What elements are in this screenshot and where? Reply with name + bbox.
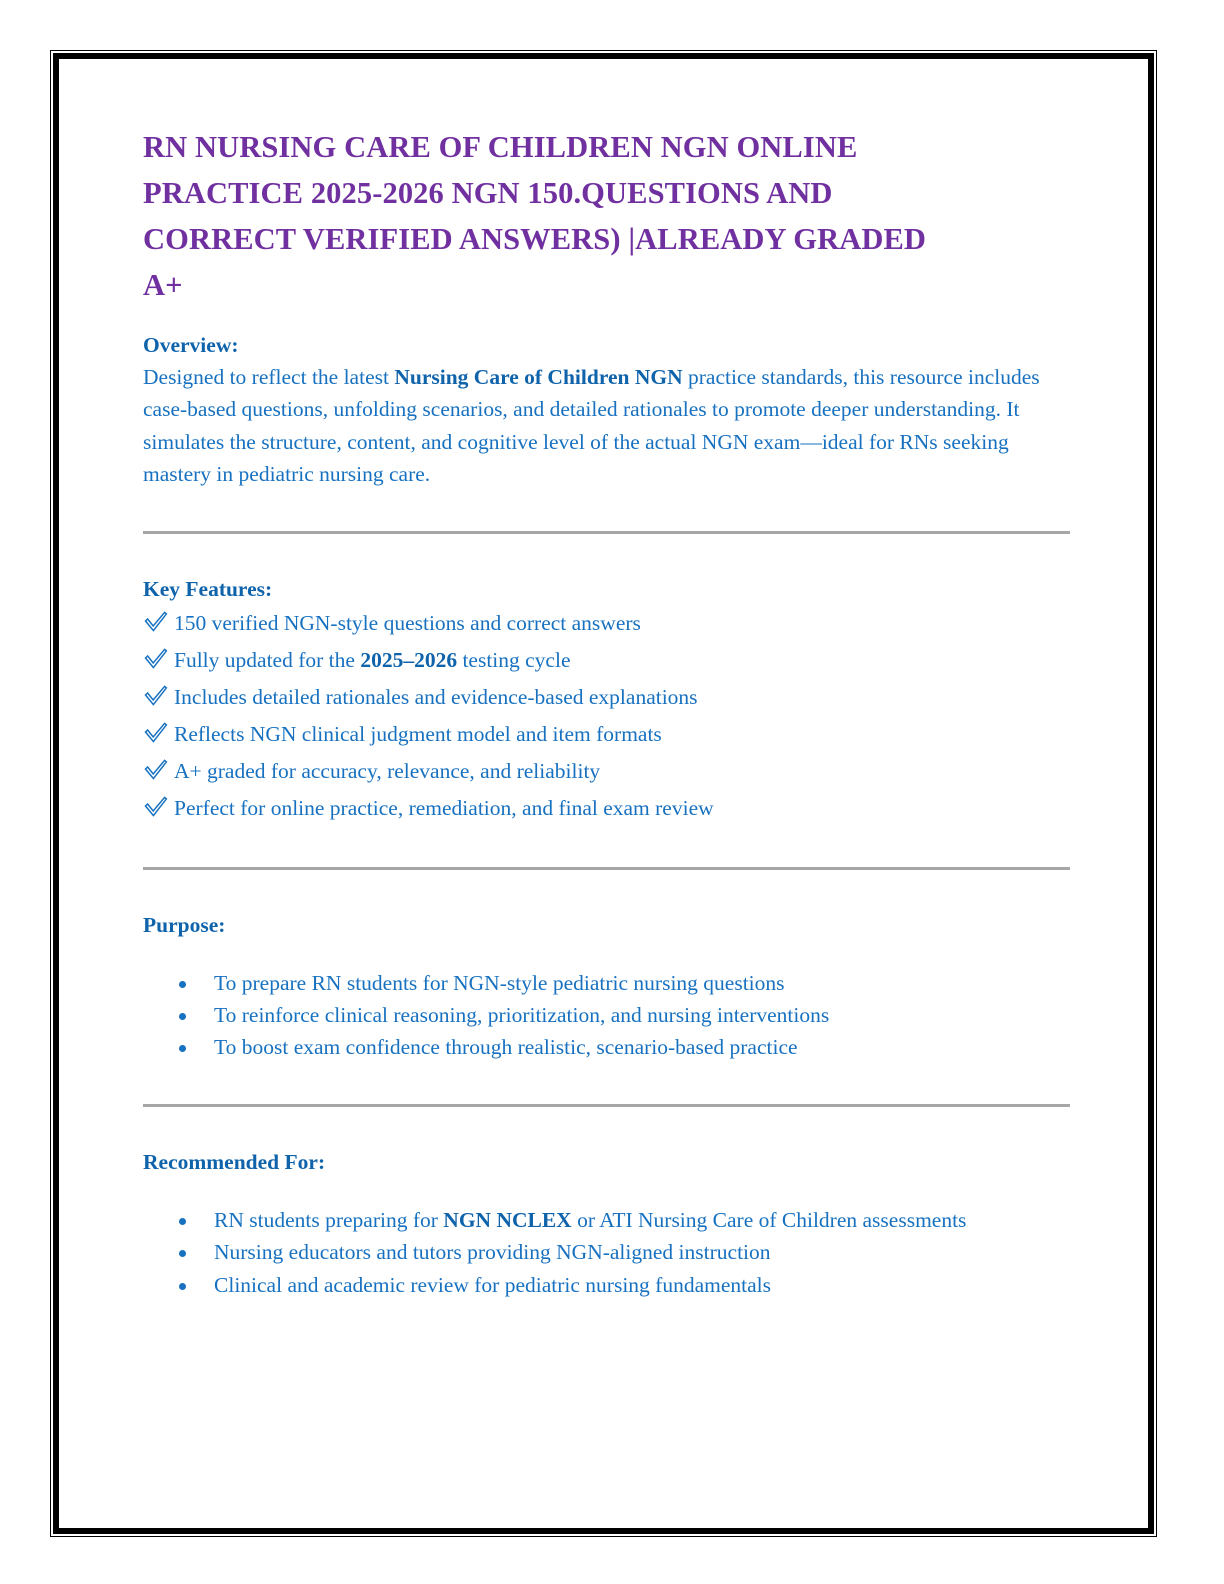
text-pre: Perfect for online practice, remediation…: [174, 796, 714, 820]
list-item-label: 150 verified NGN-style questions and cor…: [174, 605, 641, 642]
spacer: [143, 1064, 1073, 1104]
check-outline-icon: [143, 795, 169, 821]
list-item: To reinforce clinical reasoning, priorit…: [143, 999, 1073, 1031]
page-title-line-4: A+: [143, 262, 1063, 308]
list-item: RN students preparing for NGN NCLEX or A…: [143, 1204, 1073, 1236]
section-recommended-for: Recommended For: RN students preparing f…: [143, 1147, 1073, 1301]
spacer: [143, 870, 1073, 910]
text-pre: Includes detailed rationales and evidenc…: [174, 685, 698, 709]
list-item-label: Includes detailed rationales and evidenc…: [174, 679, 698, 716]
spacer: [143, 941, 1073, 967]
list-item-label: A+ graded for accuracy, relevance, and r…: [174, 753, 600, 790]
check-outline-icon: [143, 610, 169, 636]
text-post: or ATI Nursing Care of Children assessme…: [572, 1208, 967, 1232]
spacer: [143, 534, 1073, 574]
text-pre: RN students preparing for: [214, 1208, 443, 1232]
overview-text-part1: Designed to reflect the latest: [143, 365, 394, 389]
page-title-line-1: RN NURSING CARE OF CHILDREN NGN ONLINE: [143, 124, 1063, 170]
list-item: 150 verified NGN-style questions and cor…: [143, 605, 1073, 642]
text-pre: Clinical and academic review for pediatr…: [214, 1273, 771, 1297]
overview-paragraph: Designed to reflect the latest Nursing C…: [143, 361, 1073, 491]
recommended-for-list: RN students preparing for NGN NCLEX or A…: [143, 1204, 1073, 1301]
text-pre: To boost exam confidence through realist…: [214, 1035, 798, 1059]
text-pre: A+ graded for accuracy, relevance, and r…: [174, 759, 600, 783]
list-item: Reflects NGN clinical judgment model and…: [143, 716, 1073, 753]
check-outline-icon: [143, 721, 169, 747]
text-pre: 150 verified NGN-style questions and cor…: [174, 611, 641, 635]
section-key-features: Key Features: 150 verified NGN-style que…: [143, 574, 1073, 827]
overview-text-bold: Nursing Care of Children NGN: [394, 365, 682, 389]
list-item: Fully updated for the 2025–2026 testing …: [143, 642, 1073, 679]
recommended-for-heading: Recommended For:: [143, 1147, 1073, 1177]
text-post: testing cycle: [457, 648, 570, 672]
text-pre: Reflects NGN clinical judgment model and…: [174, 722, 662, 746]
text-pre: To prepare RN students for NGN-style ped…: [214, 971, 785, 995]
list-item-label: Reflects NGN clinical judgment model and…: [174, 716, 662, 753]
check-outline-icon: [143, 647, 169, 673]
check-outline-icon: [143, 758, 169, 784]
page-border-outer: RN NURSING CARE OF CHILDREN NGN ONLINE P…: [50, 50, 1157, 1537]
list-item: Clinical and academic review for pediatr…: [143, 1269, 1073, 1301]
document-body: RN NURSING CARE OF CHILDREN NGN ONLINE P…: [143, 124, 1073, 1301]
page-title-line-2: PRACTICE 2025-2026 NGN 150.QUESTIONS AND: [143, 170, 1063, 216]
list-item-label: Perfect for online practice, remediation…: [174, 790, 714, 827]
list-item: A+ graded for accuracy, relevance, and r…: [143, 753, 1073, 790]
text-bold: NGN NCLEX: [443, 1208, 571, 1232]
purpose-heading: Purpose:: [143, 910, 1073, 940]
purpose-list: To prepare RN students for NGN-style ped…: [143, 967, 1073, 1064]
page-title: RN NURSING CARE OF CHILDREN NGN ONLINE P…: [143, 124, 1063, 308]
section-purpose: Purpose: To prepare RN students for NGN-…: [143, 910, 1073, 1064]
list-item: To boost exam confidence through realist…: [143, 1031, 1073, 1063]
page-title-line-3: CORRECT VERIFIED ANSWERS) |ALREADY GRADE…: [143, 216, 1063, 262]
text-pre: Nursing educators and tutors providing N…: [214, 1240, 771, 1264]
spacer: [143, 1107, 1073, 1147]
text-pre: Fully updated for the: [174, 648, 360, 672]
spacer: [143, 827, 1073, 867]
list-item: Nursing educators and tutors providing N…: [143, 1236, 1073, 1268]
list-item: To prepare RN students for NGN-style ped…: [143, 967, 1073, 999]
list-item: Includes detailed rationales and evidenc…: [143, 679, 1073, 716]
key-features-heading: Key Features:: [143, 574, 1073, 604]
spacer: [143, 491, 1073, 531]
check-outline-icon: [143, 684, 169, 710]
spacer: [143, 1178, 1073, 1204]
section-overview: Overview: Designed to reflect the latest…: [143, 330, 1073, 491]
text-pre: To reinforce clinical reasoning, priorit…: [214, 1003, 829, 1027]
key-features-list: 150 verified NGN-style questions and cor…: [143, 605, 1073, 827]
overview-heading: Overview:: [143, 330, 1073, 360]
page-border-inner: RN NURSING CARE OF CHILDREN NGN ONLINE P…: [53, 53, 1154, 1534]
list-item: Perfect for online practice, remediation…: [143, 790, 1073, 827]
list-item-label: Fully updated for the 2025–2026 testing …: [174, 642, 571, 679]
text-bold: 2025–2026: [360, 648, 457, 672]
